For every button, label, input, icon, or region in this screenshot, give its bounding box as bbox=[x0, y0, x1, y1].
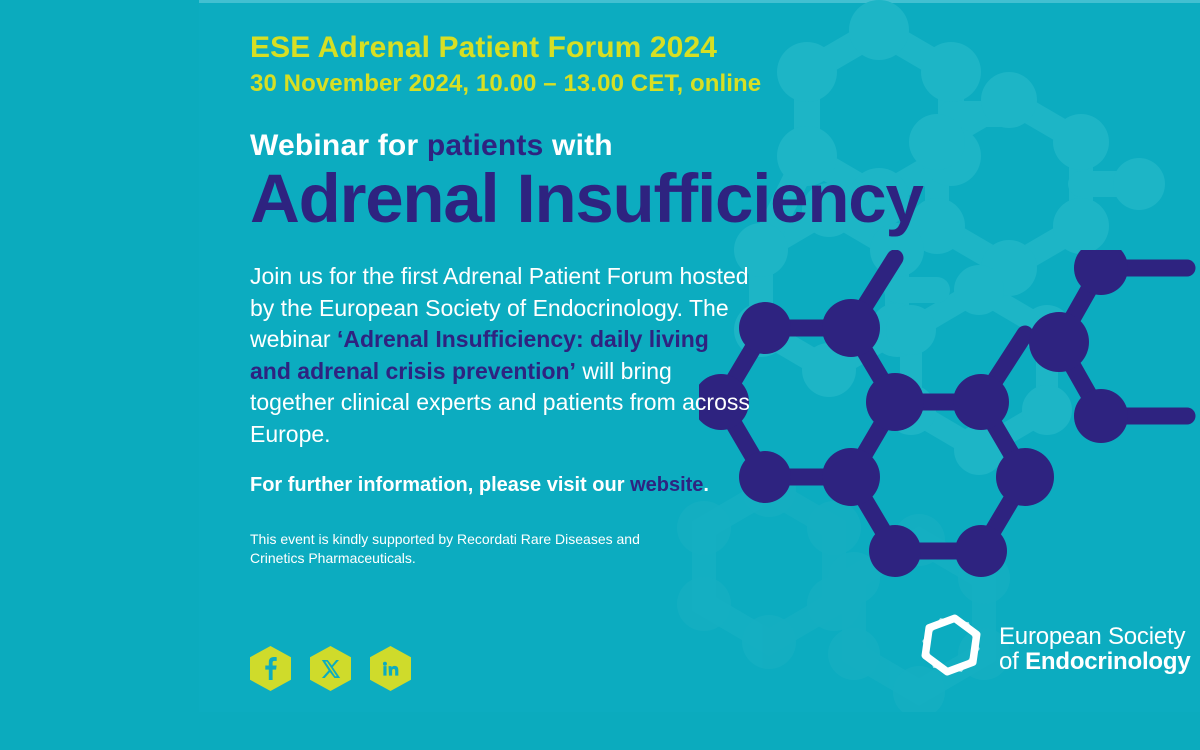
event-datetime: 30 November 2024, 10.00 – 13.00 CET, onl… bbox=[250, 65, 970, 99]
ese-name-line2: of Endocrinology bbox=[999, 650, 1191, 674]
body-paragraph: Join us for the first Adrenal Patient Fo… bbox=[250, 261, 750, 450]
x-twitter-button[interactable] bbox=[310, 646, 351, 691]
facebook-icon bbox=[263, 657, 278, 680]
cta-line: For further information, please visit ou… bbox=[250, 474, 970, 497]
ese-endocrinology: Endocrinology bbox=[1025, 648, 1190, 675]
webinar-prefix: Webinar for bbox=[250, 129, 427, 162]
ese-wordmark: European Society of Endocrinology bbox=[999, 625, 1191, 674]
x-twitter-icon bbox=[321, 659, 341, 679]
event-title: ESE Adrenal Patient Forum 2024 bbox=[250, 0, 970, 65]
website-link[interactable]: website bbox=[630, 474, 703, 496]
linkedin-button[interactable] bbox=[370, 646, 411, 691]
facebook-button[interactable] bbox=[250, 646, 291, 691]
sponsor-note: This event is kindly supported by Record… bbox=[250, 530, 690, 568]
cta-prefix: For further information, please visit ou… bbox=[250, 474, 630, 496]
text-content: ESE Adrenal Patient Forum 2024 30 Novemb… bbox=[250, 0, 970, 712]
ese-name-line1: European Society bbox=[999, 625, 1191, 649]
cta-suffix: . bbox=[703, 474, 709, 496]
poster-canvas: ESE Adrenal Patient Forum 2024 30 Novemb… bbox=[0, 0, 1200, 750]
social-links bbox=[250, 646, 411, 691]
content-panel: ESE Adrenal Patient Forum 2024 30 Novemb… bbox=[199, 0, 1200, 712]
page-title: Adrenal Insufficiency bbox=[250, 161, 970, 237]
ese-hexagon-ring-mark bbox=[913, 609, 989, 690]
webinar-subtitle: Webinar for patients with bbox=[250, 129, 970, 163]
linkedin-icon bbox=[381, 659, 400, 678]
ese-of: of bbox=[999, 648, 1025, 675]
webinar-accent: patients bbox=[427, 129, 544, 162]
ese-logo[interactable]: European Society of Endocrinology bbox=[913, 609, 1191, 690]
webinar-suffix: with bbox=[544, 129, 613, 162]
